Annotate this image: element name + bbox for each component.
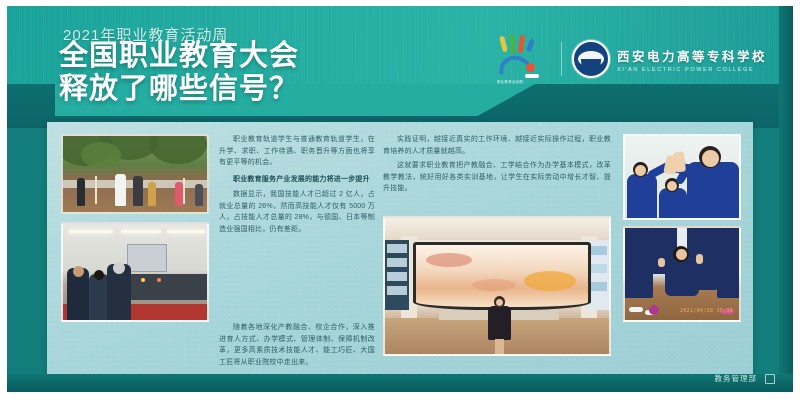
paragraph: 职业教育轨道学生与普通教育轨道学生，在升学、求职、工作待遇、职务晋升等方面也将享… [219,134,375,169]
poster-root: 2021年职业教育活动周 全国职业教育大会 释放了哪些信号？ 职业教育活动周 西… [0,0,800,402]
decor-ball [649,305,659,315]
section-heading: 职业教育服务产业发展的能力将进一步提升 [219,174,375,186]
school-seal-icon [572,40,610,78]
frame-bottom-edge [7,374,793,392]
school-logo: 西安电力高等专科学校 XI'AN ELECTRIC POWER COLLEGE [572,40,767,78]
studio-host [488,306,511,340]
photo-students-group: 2021/04/28 15:36 [623,226,741,322]
article-card: 2021/04/28 15:36 职业教育轨道学生与普通教育轨道学生，在升学、求… [47,122,753,378]
photo-outdoor-surveying-training [61,134,209,214]
vocational-education-week-logo: 职业教育活动周 [495,34,551,84]
frame-right-edge [779,6,793,392]
school-name-block: 西安电力高等专科学校 XI'AN ELECTRIC POWER COLLEGE [617,46,767,73]
text-column-1: 职业教育轨道学生与普通教育轨道学生，在升学、求职、工作待遇、职务晋升等方面也将享… [219,134,375,238]
school-name-cn: 西安电力高等专科学校 [617,46,767,65]
photo-tv-studio-broadcast [383,216,611,356]
activity-logo-caption: 职业教育活动周 [497,80,523,85]
studio-left-monitors [385,240,409,310]
logo-dot-icon [526,63,535,72]
paragraph: 随着各地深化产教融合、校企合作，深入推进育人方式、办学模式、管理体制、保障机制改… [219,322,375,368]
footer-label: 教务管理部 [715,373,758,384]
logo-bar-icon [525,74,539,78]
logo-group: 职业教育活动周 西安电力高等专科学校 XI'AN ELECTRIC POWER … [495,33,767,85]
poster-frame: 2021年职业教育活动周 全国职业教育大会 释放了哪些信号？ 职业教育活动周 西… [7,6,793,392]
photo-electrical-lab-training [61,222,209,322]
paragraph: 数据显示，我国技能人才已超过 2 亿人，占就业总量的 26%，然而高技能人才仅有… [219,189,375,235]
footer-mark-icon [765,374,775,384]
photo-team-high-five [623,134,741,220]
footer: 教务管理部 [715,373,776,384]
paragraph: 这就要求职业教育把产教融合、工学结合作为办学基本模式，改革教学教法，统好用好各类… [383,160,611,195]
headline-line-1: 全国职业教育大会 [59,40,299,72]
logo-divider [561,42,562,76]
school-name-en: XI'AN ELECTRIC POWER COLLEGE [617,67,767,73]
paragraph: 实践证明，越接近真实的工作环境、越接近实际操作过程，职业教育培养的人才质量就越高… [383,134,611,157]
text-column-3: 实践证明，越接近真实的工作环境、越接近实际操作过程，职业教育培养的人才质量就越高… [383,134,611,198]
photo-timestamp-stamp: 2021/04/28 15:36 [680,308,733,314]
